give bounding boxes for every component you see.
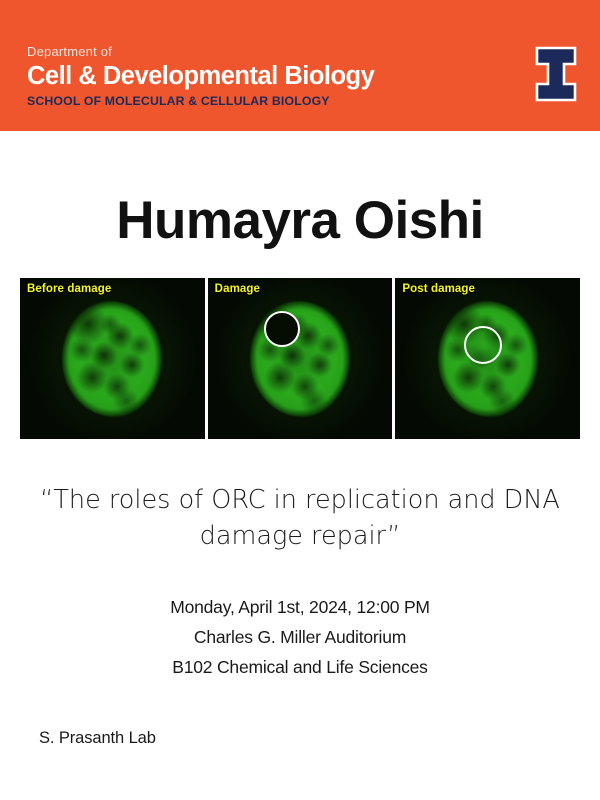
talk-title: “The roles of ORC in replication and DNA… [30,482,570,554]
damage-site-circle-icon [464,326,502,364]
panel-label: Damage [215,283,260,295]
nucleus-body [250,301,350,417]
event-building: B102 Chemical and Life Sciences [0,652,600,682]
event-details: Monday, April 1st, 2024, 12:00 PM Charle… [0,592,600,682]
event-datetime: Monday, April 1st, 2024, 12:00 PM [0,592,600,622]
header-banner: Department of Cell & Developmental Biolo… [0,0,600,131]
micro-panel-damage: Damage [208,278,393,439]
panel-label: Before damage [27,283,111,295]
micro-panel-post-damage: Post damage [395,278,580,439]
microscopy-figure-strip: Before damage Damage Post damage [20,278,580,439]
department-name: Cell & Developmental Biology [27,62,374,91]
lab-credit: S. Prasanth Lab [39,729,156,748]
cell-nucleus [250,301,350,417]
cell-nucleus [62,301,162,417]
nucleus-body [62,301,162,417]
micro-panel-before-damage: Before damage [20,278,205,439]
department-eyebrow: Department of [27,44,374,60]
cell-nucleus [438,301,538,417]
school-name: SCHOOL OF MOLECULAR & CELLULAR BIOLOGY [27,94,374,109]
speaker-name: Humayra Oishi [0,190,600,252]
block-i-icon [533,46,579,102]
panel-label: Post damage [402,283,475,295]
event-venue: Charles G. Miller Auditorium [0,622,600,652]
department-identity-block: Department of Cell & Developmental Biolo… [27,44,374,109]
